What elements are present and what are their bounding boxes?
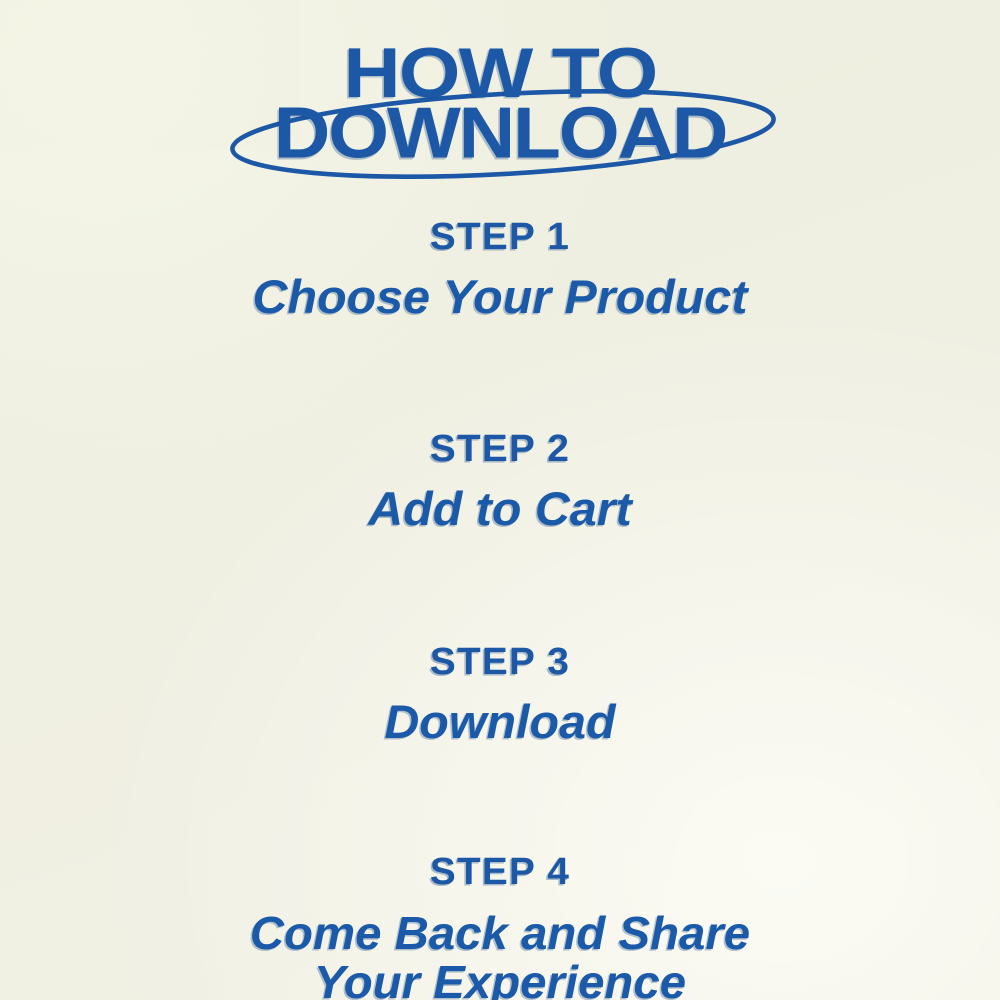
how-to-download-poster: HOW TO DOWNLOAD STEP 1 Choose Your Produ… (0, 0, 1000, 1000)
step-1-title: Choose Your Product (0, 272, 1000, 322)
step-4-title-line-1: Come Back and Share (0, 909, 1000, 958)
step-3-title: Download (0, 697, 1000, 747)
step-4-title-line-2: Your Experience (0, 958, 1000, 1000)
step-1-label: STEP 1 (0, 218, 1000, 256)
step-3-label: STEP 3 (0, 643, 1000, 681)
poster-title-block: HOW TO DOWNLOAD (0, 0, 1000, 200)
step-2-label: STEP 2 (0, 430, 1000, 468)
step-2-title: Add to Cart (0, 484, 1000, 534)
step-item-1: STEP 1 Choose Your Product (0, 218, 1000, 322)
step-item-3: STEP 3 Download (0, 643, 1000, 747)
title-line-download: DOWNLOAD (0, 97, 1000, 169)
step-4-label: STEP 4 (0, 853, 1000, 891)
step-item-2: STEP 2 Add to Cart (0, 430, 1000, 534)
step-item-4: STEP 4 Come Back and Share Your Experien… (0, 853, 1000, 1000)
steps-list: STEP 1 Choose Your Product STEP 2 Add to… (0, 196, 1000, 1000)
step-4-title: Come Back and Share Your Experience (0, 909, 1000, 1000)
